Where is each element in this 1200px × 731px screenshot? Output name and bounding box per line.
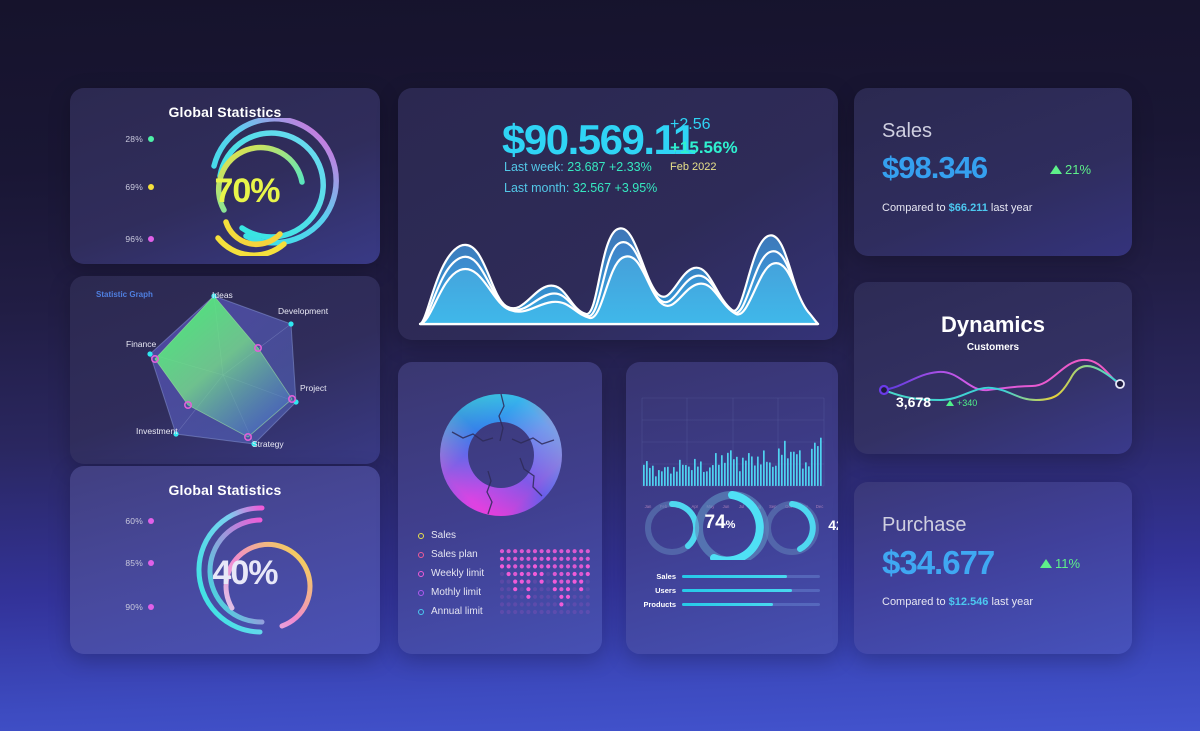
last-month-delta: +3.95% <box>615 181 658 195</box>
legend-dot-icon <box>148 136 154 142</box>
legend-item[interactable]: Sales <box>418 530 484 541</box>
bar-label: Sales <box>640 572 676 581</box>
legend-ring-icon <box>418 552 424 558</box>
card-sales: Sales $98.346 21% Compared to $66.211 la… <box>854 88 1132 256</box>
legend-ring-icon <box>418 571 424 577</box>
bar-track <box>682 589 820 592</box>
card-donut: Sales Sales plan Weekly limit Mothly lim… <box>398 362 602 654</box>
donut-legend: Sales Sales plan Weekly limit Mothly lim… <box>418 530 484 625</box>
last-month-value: 32.567 <box>573 181 611 195</box>
compare-value: $12.546 <box>949 596 989 608</box>
radar-axis-label-development: Development <box>278 306 328 316</box>
gauge-value: 74 <box>705 512 726 533</box>
main-metric-value: $90.569.11 <box>502 116 695 164</box>
gauge-center-value: 40% <box>90 554 380 593</box>
kpi-change: 11% <box>1040 556 1080 571</box>
monthly-bar-chart <box>638 390 828 500</box>
dashboard: Global Statistics 28% 69% 96% <box>0 0 1200 731</box>
radar-axis-label-finance: Finance <box>126 339 156 349</box>
legend-ring-icon <box>418 609 424 615</box>
main-metric-delta-pct: +15.56% <box>670 138 738 158</box>
legend-item[interactable]: Weekly limit <box>418 568 484 579</box>
bar-label: Users <box>640 586 676 595</box>
wave-area-chart <box>398 214 838 336</box>
legend-label: Sales plan <box>431 549 478 560</box>
legend-value: 60% <box>125 516 143 526</box>
bar-row: Sales <box>640 572 820 581</box>
card-stats-panel: JanFebMarAprMayJunJulAugSepOctNovDec 26%… <box>626 362 838 654</box>
bar-fill <box>682 603 773 606</box>
radar-axis-label-investment: Investment <box>136 426 178 436</box>
bar-label: Products <box>640 600 676 609</box>
card-main-metric: $90.569.11 +2.56 +15.56% Feb 2022 Last w… <box>398 88 838 340</box>
legend-ring-icon <box>418 533 424 539</box>
card-statistic-graph: Statistic Graph <box>70 276 380 464</box>
legend-value: 90% <box>125 602 143 612</box>
bar-fill <box>682 589 792 592</box>
bar-track <box>682 575 820 578</box>
bar-fill <box>682 575 787 578</box>
compare-suffix: last year <box>991 596 1033 608</box>
legend-label: Mothly limit <box>431 587 481 598</box>
card-title: Dynamics <box>854 312 1132 338</box>
legend-item: 28% <box>125 134 154 144</box>
last-week-row: Last week: 23.687 +2.33% <box>504 160 652 174</box>
kpi-value: $98.346 <box>882 150 987 186</box>
legend-item[interactable]: Mothly limit <box>418 587 484 598</box>
legend-label: Annual limit <box>431 606 483 617</box>
last-month-label: Last month: <box>504 181 569 195</box>
gauge-label-3: 42% <box>734 517 838 533</box>
trend-up-icon <box>1050 165 1062 174</box>
legend-dot-icon <box>148 604 154 610</box>
card-global-statistics-top: Global Statistics 28% 69% 96% <box>70 88 380 264</box>
card-purchase: Purchase $34.677 11% Compared to $12.546… <box>854 482 1132 654</box>
legend-ring-icon <box>418 590 424 596</box>
kpi-change-value: 21% <box>1065 162 1091 177</box>
compare-suffix: last year <box>991 202 1033 214</box>
dot-matrix-chart <box>498 540 594 618</box>
card-dynamics: Dynamics Customers 3,678 +340 <box>854 282 1132 454</box>
legend-dot-icon <box>148 518 154 524</box>
compare-prefix: Compared to <box>882 202 946 214</box>
kpi-change-value: 11% <box>1055 556 1080 571</box>
bar-row: Users <box>640 586 820 595</box>
legend-label: Weekly limit <box>431 568 484 579</box>
gauge-center-value: 70% <box>92 172 380 211</box>
legend-dot-icon <box>148 236 154 242</box>
bar-row: Products <box>640 600 820 609</box>
kpi-value: $34.677 <box>882 544 994 582</box>
legend-label: Sales <box>431 530 456 541</box>
last-month-row: Last month: 32.567 +3.95% <box>504 181 657 195</box>
last-week-value: 23.687 <box>567 160 605 174</box>
legend-value: 96% <box>125 234 143 244</box>
legend-item[interactable]: Sales plan <box>418 549 484 560</box>
main-metric-delta-abs: +2.56 <box>670 116 710 134</box>
last-week-label: Last week: <box>504 160 564 174</box>
card-title: Sales <box>882 120 932 143</box>
kpi-comparison: Compared to $12.546 last year <box>882 596 1033 608</box>
trend-up-icon <box>1040 559 1052 568</box>
compare-value: $66.211 <box>949 202 988 214</box>
donut-chart <box>426 380 576 530</box>
last-week-delta: +2.33% <box>609 160 652 174</box>
legend-item: 96% <box>125 234 154 244</box>
kpi-comparison: Compared to $66.211 last year <box>882 202 1032 214</box>
legend-item[interactable]: Annual limit <box>418 606 484 617</box>
card-title: Purchase <box>882 514 967 537</box>
dynamics-delta-value: +340 <box>957 398 977 408</box>
dynamics-delta: +340 <box>946 398 977 408</box>
trend-up-icon <box>946 400 954 406</box>
card-global-statistics-bottom: Global Statistics 60% 85% 90% <box>70 466 380 654</box>
resource-bars: Sales Users Products <box>640 572 820 614</box>
main-metric-period: Feb 2022 <box>670 161 716 173</box>
bar-track <box>682 603 820 606</box>
legend-item: 60% <box>125 516 154 526</box>
radar-axis-label-ideas: Ideas <box>212 290 233 300</box>
radar-axis-label-strategy: Strategy <box>252 439 284 449</box>
legend-value: 28% <box>125 134 143 144</box>
legend-item: 90% <box>125 602 154 612</box>
kpi-change: 21% <box>1050 162 1091 177</box>
dynamics-value: 3,678 <box>896 394 931 410</box>
gauge-value: 42 <box>828 517 838 533</box>
radar-axis-label-project: Project <box>300 383 326 393</box>
compare-prefix: Compared to <box>882 596 946 608</box>
card-title: Global Statistics <box>70 88 380 120</box>
card-title: Global Statistics <box>70 466 380 498</box>
